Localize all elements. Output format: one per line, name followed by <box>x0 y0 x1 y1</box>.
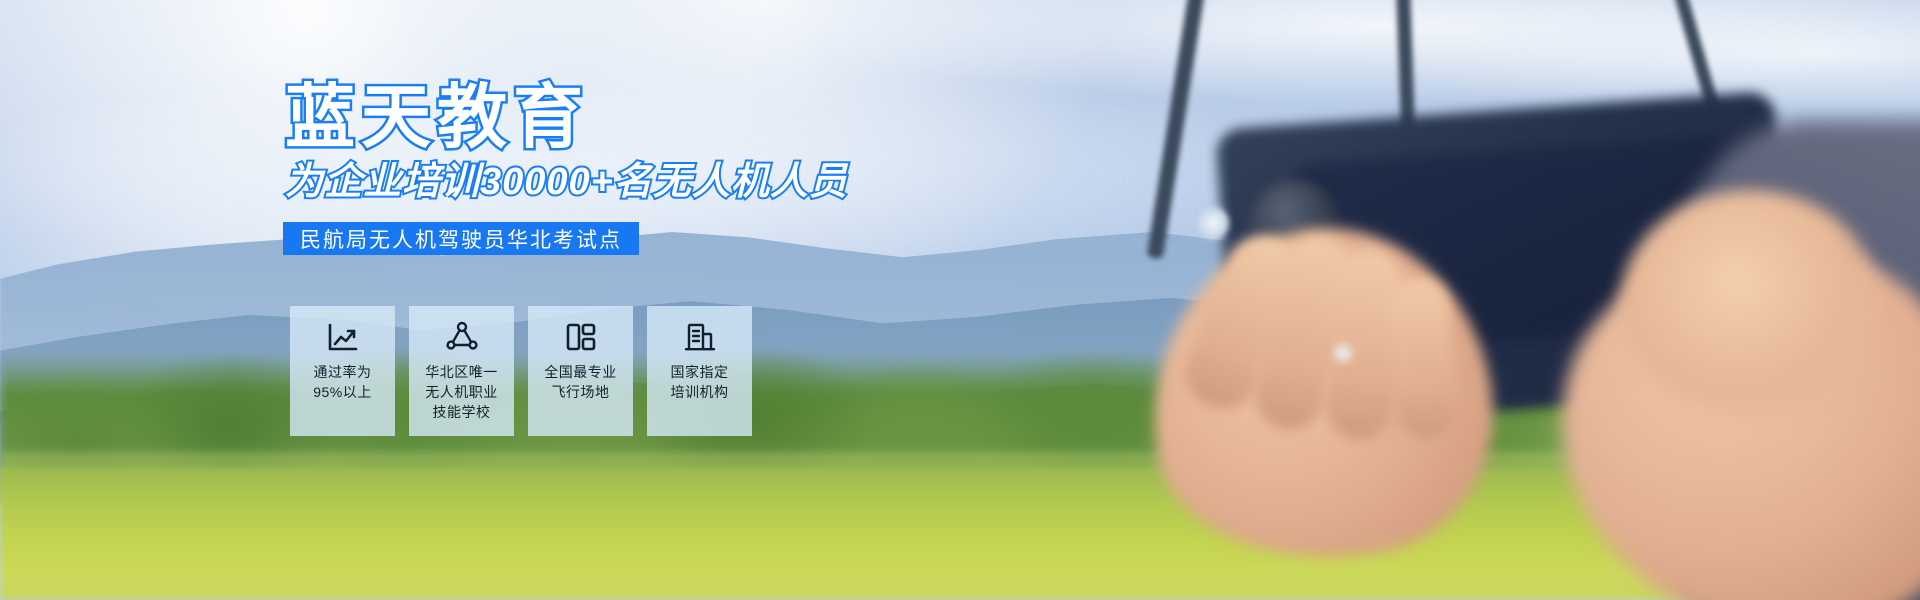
building-icon <box>683 320 717 354</box>
feature-card-list: 通过率为 95%以上 华北区唯一 无人机职业 技能学校 <box>290 306 752 436</box>
layout-panels-icon <box>564 320 598 354</box>
feature-card-institution[interactable]: 国家指定 培训机构 <box>647 306 752 436</box>
feature-card-pass-rate[interactable]: 通过率为 95%以上 <box>290 306 395 436</box>
feature-card-label: 华北区唯一 无人机职业 技能学校 <box>425 363 498 423</box>
banner-content: 蓝天教育 为企业培训30000+名无人机人员 民航局无人机驾驶员华北考试点 通过… <box>0 0 1920 600</box>
banner-subtitle: 为企业培训30000+名无人机人员 <box>285 163 848 201</box>
feature-card-label: 全国最专业 飞行场地 <box>544 363 617 403</box>
feature-card-airfield[interactable]: 全国最专业 飞行场地 <box>528 306 633 436</box>
certification-badge: 民航局无人机驾驶员华北考试点 <box>283 222 639 255</box>
feature-card-school[interactable]: 华北区唯一 无人机职业 技能学校 <box>409 306 514 436</box>
trending-up-icon <box>326 320 360 354</box>
network-nodes-icon <box>445 320 479 354</box>
banner-title: 蓝天教育 <box>285 82 589 152</box>
feature-card-label: 通过率为 95%以上 <box>313 363 372 403</box>
hero-banner: 蓝天教育 为企业培训30000+名无人机人员 民航局无人机驾驶员华北考试点 通过… <box>0 0 1920 600</box>
feature-card-label: 国家指定 培训机构 <box>671 363 729 403</box>
